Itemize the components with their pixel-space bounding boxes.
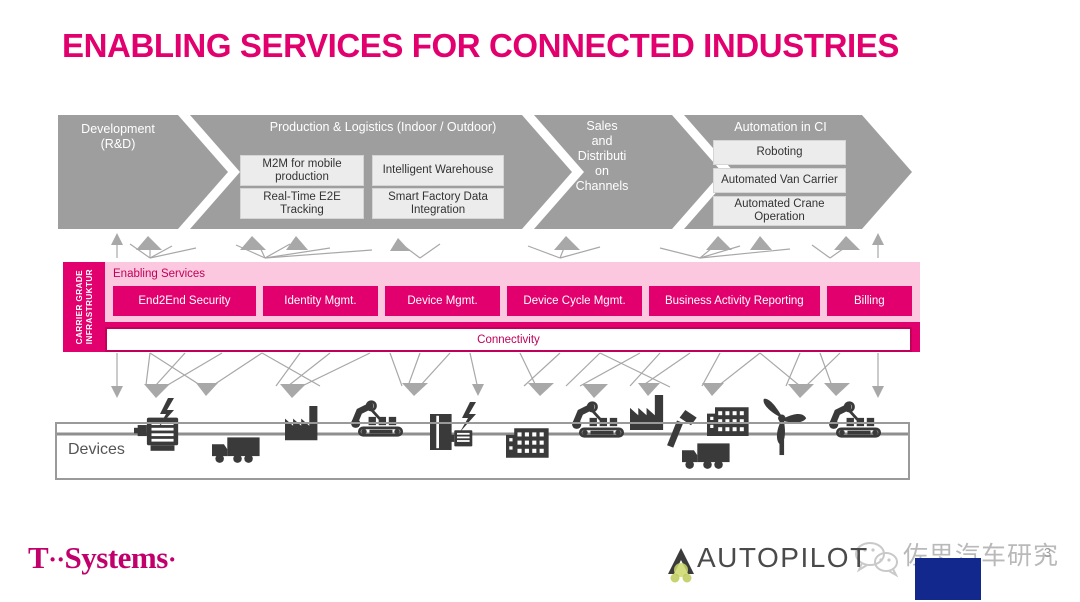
service-device-cycle-mgmt[interactable]: Device Cycle Mgmt. bbox=[507, 286, 642, 316]
service-end2end-security[interactable]: End2End Security bbox=[113, 286, 256, 316]
devices-label: Devices bbox=[68, 441, 125, 459]
subbox-smart-factory-data-integration: Smart Factory Data Integration bbox=[372, 188, 504, 219]
autopilot-logo: AUTOPILOT bbox=[665, 542, 869, 574]
subbox-automated-crane-operation: Automated Crane Operation bbox=[713, 196, 846, 226]
enabling-services-title: Enabling Services bbox=[113, 268, 205, 280]
subbox-automated-van-carrier: Automated Van Carrier bbox=[713, 168, 846, 193]
sidebar-line-1: CARRIER GRADE bbox=[75, 270, 84, 344]
t-systems-logo: T··Systems· bbox=[28, 540, 176, 576]
sidebar-line-2: INFRASTRUKTUR bbox=[85, 269, 94, 344]
downward-arrow-heads bbox=[111, 383, 884, 398]
page-number: 3 bbox=[1044, 545, 1051, 560]
service-device-mgmt[interactable]: Device Mgmt. bbox=[385, 286, 500, 316]
downward-arrow-group bbox=[117, 353, 878, 390]
autopilot-wordmark: AUTOPILOT bbox=[697, 542, 869, 574]
chevron-development bbox=[58, 115, 228, 229]
service-billing[interactable]: Billing bbox=[827, 286, 912, 316]
t-systems-t: T bbox=[28, 540, 48, 575]
enabling-services-row: End2End Security Identity Mgmt. Device M… bbox=[113, 286, 912, 316]
eu-flag bbox=[915, 558, 981, 600]
subbox-roboting: Roboting bbox=[713, 140, 846, 165]
subbox-intelligent-warehouse: Intelligent Warehouse bbox=[372, 155, 504, 186]
upward-arrow-heads bbox=[111, 233, 884, 251]
devices-container bbox=[55, 422, 910, 480]
subbox-realtime-e2e-tracking: Real-Time E2E Tracking bbox=[240, 188, 364, 219]
service-business-activity-reporting[interactable]: Business Activity Reporting bbox=[649, 286, 820, 316]
service-identity-mgmt[interactable]: Identity Mgmt. bbox=[263, 286, 378, 316]
enabling-services-band: Enabling Services End2End Security Ident… bbox=[105, 262, 920, 322]
slide: ENABLING SERVICES FOR CONNECTED INDUSTRI… bbox=[0, 0, 1080, 602]
connectivity-bar[interactable]: Connectivity bbox=[105, 327, 912, 352]
t-systems-word: Systems bbox=[65, 540, 168, 575]
carrier-grade-sidebar: CARRIER GRADE INFRASTRUKTUR bbox=[63, 262, 105, 352]
subbox-m2m-mobile-production: M2M for mobile production bbox=[240, 155, 364, 186]
